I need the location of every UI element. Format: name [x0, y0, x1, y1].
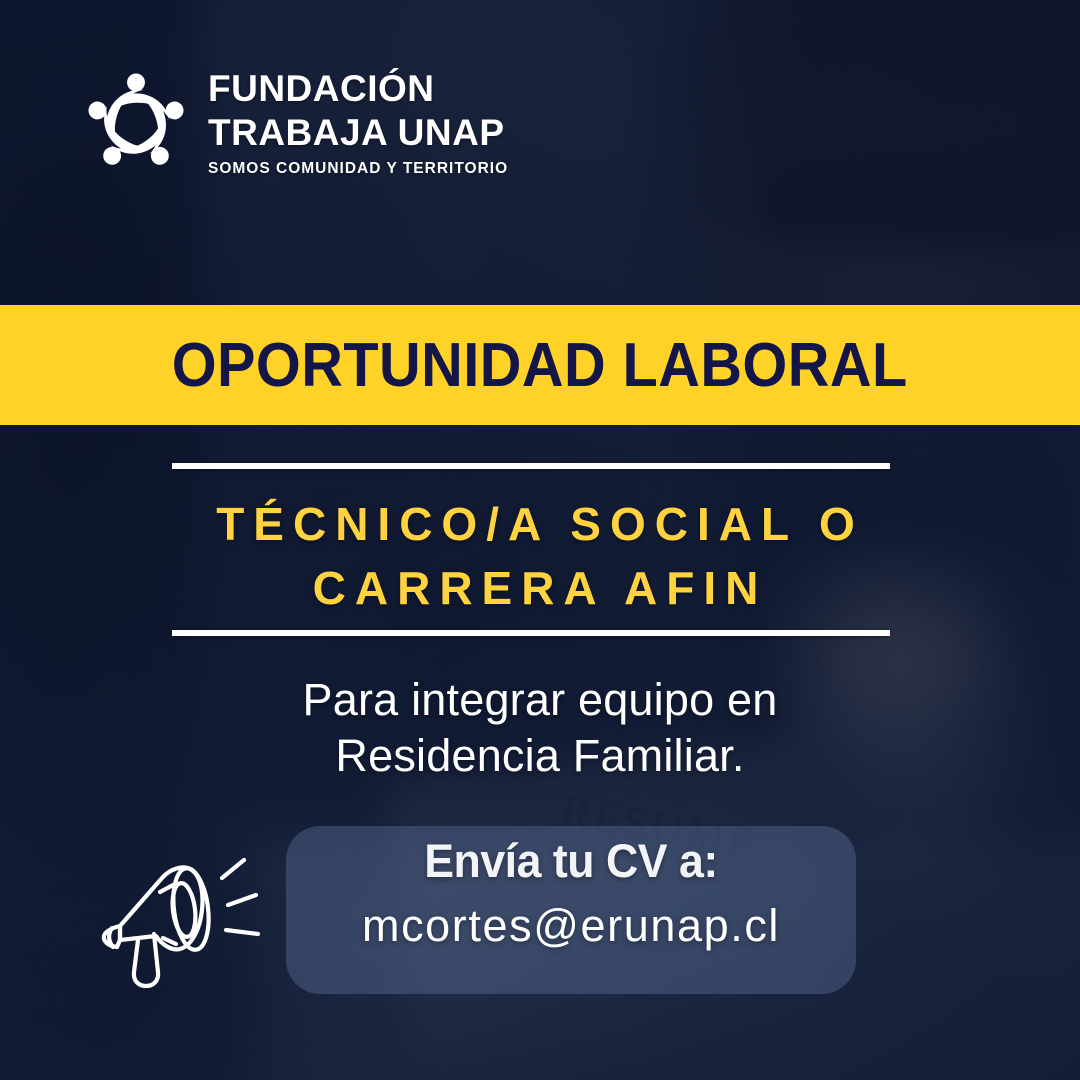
- brand-name-line-1: FUNDACIÓN: [208, 70, 508, 107]
- brand-logo-text: FUNDACIÓN TRABAJA UNAP SOMOS COMUNIDAD Y…: [208, 70, 508, 177]
- job-description: Para integrar equipo en Residencia Famil…: [0, 672, 1080, 784]
- divider-above-title: [172, 463, 890, 469]
- divider-below-title: [172, 630, 890, 636]
- job-opportunity-poster: RESUME: [0, 0, 1080, 1080]
- people-circle-logo-icon: [84, 71, 188, 175]
- job-title: TÉCNICO/A SOCIAL O CARRERA AFIN: [0, 492, 1080, 620]
- headline-banner: OPORTUNIDAD LABORAL: [0, 305, 1080, 425]
- megaphone-icon: [96, 848, 291, 998]
- brand-name-line-2: TRABAJA UNAP: [208, 114, 508, 151]
- poster-content: FUNDACIÓN TRABAJA UNAP SOMOS COMUNIDAD Y…: [0, 0, 1080, 1080]
- job-title-line-2: CARRERA AFIN: [0, 556, 1080, 620]
- job-title-line-1: TÉCNICO/A SOCIAL O: [0, 492, 1080, 556]
- brand-tagline: SOMOS COMUNIDAD Y TERRITORIO: [208, 161, 508, 177]
- headline-text: OPORTUNIDAD LABORAL: [172, 330, 908, 401]
- contact-email[interactable]: mcortes@erunap.cl: [286, 900, 856, 952]
- brand-logo: FUNDACIÓN TRABAJA UNAP SOMOS COMUNIDAD Y…: [84, 70, 508, 177]
- contact-label: Envía tu CV a:: [300, 833, 842, 888]
